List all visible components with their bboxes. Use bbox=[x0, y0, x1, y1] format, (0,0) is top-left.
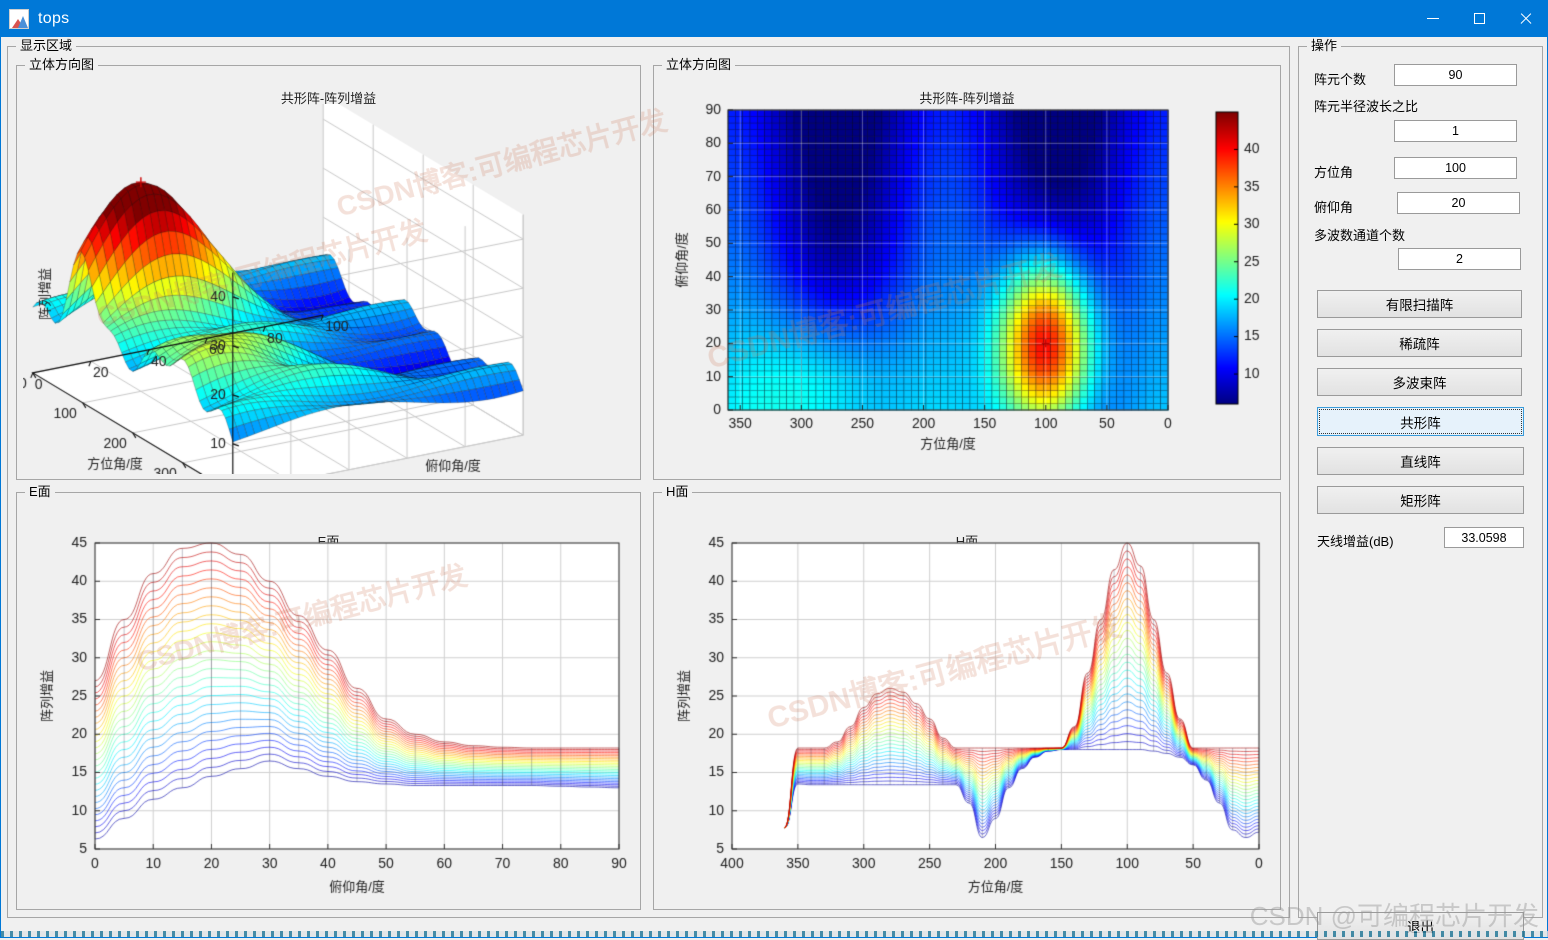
label-radius-wavelength-ratio: 阵元半径波长之比 bbox=[1314, 96, 1418, 115]
button-rectangular-array[interactable]: 矩形阵 bbox=[1317, 486, 1524, 514]
button-sparse-array[interactable]: 稀疏阵 bbox=[1317, 329, 1522, 357]
value-antenna-gain: 33.0598 bbox=[1444, 527, 1524, 548]
close-icon bbox=[1519, 12, 1532, 25]
button-linear-array[interactable]: 直线阵 bbox=[1317, 447, 1524, 475]
taskbar-strip bbox=[1, 931, 1548, 937]
maximize-button[interactable] bbox=[1456, 0, 1502, 37]
panel-surf3d-title: 立体方向图 bbox=[25, 57, 98, 72]
surf3d-plot[interactable] bbox=[23, 104, 633, 474]
display-area-title: 显示区域 bbox=[16, 38, 76, 53]
window-title: tops bbox=[38, 10, 69, 28]
panel-hplane-title: H面 bbox=[662, 484, 692, 499]
hplane-plot[interactable] bbox=[660, 507, 1275, 907]
window-body: 显示区域 立体方向图 共形阵-阵列增益 立体方向图 共形阵-阵列增益 E面 E面… bbox=[0, 37, 1548, 938]
display-area-panel: 显示区域 立体方向图 共形阵-阵列增益 立体方向图 共形阵-阵列增益 E面 E面… bbox=[7, 46, 1290, 918]
input-multibeam-channels[interactable]: 2 bbox=[1398, 248, 1521, 270]
minimize-icon bbox=[1427, 18, 1439, 19]
button-multibeam-array[interactable]: 多波束阵 bbox=[1317, 368, 1522, 396]
label-multibeam-channels: 多波数通道个数 bbox=[1314, 225, 1405, 244]
maximize-icon bbox=[1474, 13, 1485, 24]
window-controls bbox=[1410, 0, 1548, 37]
close-button[interactable] bbox=[1502, 0, 1548, 37]
input-elevation[interactable]: 20 bbox=[1397, 192, 1520, 214]
operations-panel: 操作 阵元个数 90 阵元半径波长之比 1 方位角 100 俯仰角 20 多波数… bbox=[1298, 46, 1543, 918]
panel-hplane: H面 H面 bbox=[653, 492, 1281, 910]
eplane-plot[interactable] bbox=[23, 507, 635, 907]
label-elevation: 俯仰角 bbox=[1314, 197, 1353, 216]
label-element-count: 阵元个数 bbox=[1314, 69, 1366, 88]
input-element-count[interactable]: 90 bbox=[1394, 64, 1517, 86]
button-conformal-array[interactable]: 共形阵 bbox=[1317, 407, 1524, 436]
label-antenna-gain: 天线增益(dB) bbox=[1317, 531, 1394, 550]
input-azimuth[interactable]: 100 bbox=[1394, 157, 1517, 179]
contour-plot[interactable] bbox=[660, 102, 1275, 474]
button-limited-scan-array[interactable]: 有限扫描阵 bbox=[1317, 290, 1522, 318]
panel-contour-title: 立体方向图 bbox=[662, 57, 735, 72]
minimize-button[interactable] bbox=[1410, 0, 1456, 37]
input-radius-wavelength-ratio[interactable]: 1 bbox=[1394, 120, 1517, 142]
panel-surf3d: 立体方向图 共形阵-阵列增益 bbox=[16, 65, 641, 480]
label-azimuth: 方位角 bbox=[1314, 162, 1353, 181]
title-bar: tops bbox=[0, 0, 1548, 37]
panel-contour: 立体方向图 共形阵-阵列增益 bbox=[653, 65, 1281, 480]
panel-eplane-title: E面 bbox=[25, 484, 55, 499]
matlab-icon bbox=[9, 9, 29, 29]
panel-eplane: E面 E面 bbox=[16, 492, 641, 910]
operations-title: 操作 bbox=[1307, 38, 1341, 53]
